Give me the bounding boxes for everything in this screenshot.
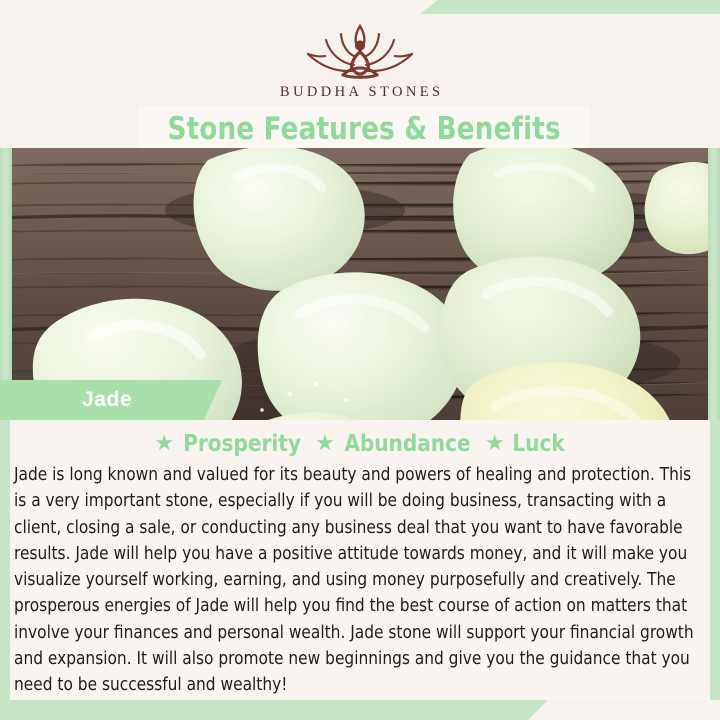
stone-photo (0, 148, 720, 420)
brand-logo: BUDDHA STONES (0, 16, 720, 101)
photo-right-edge-accent (708, 148, 720, 420)
title-banner: Stone Features & Benefits (138, 106, 590, 151)
star-icon: ★ (315, 432, 335, 454)
photo-left-edge-accent (0, 148, 12, 420)
panel-left-edge-accent (0, 420, 10, 700)
stone-description: Jade is long known and valued for its be… (14, 462, 698, 699)
benefit-item-abundance: ★ Abundance (315, 429, 474, 457)
benefit-label: Prosperity (183, 429, 301, 457)
benefit-label: Abundance (344, 429, 470, 457)
benefit-item-luck: ★ Luck (485, 429, 566, 457)
star-icon: ★ (485, 432, 505, 454)
benefit-label: Luck (512, 429, 564, 457)
brand-wordmark: BUDDHA STONES (0, 84, 720, 101)
benefit-item-prosperity: ★ Prosperity (154, 429, 304, 457)
stone-name-band: Jade (0, 380, 222, 420)
page-title: Stone Features & Benefits (167, 111, 560, 147)
stone-info-card: BUDDHA STONES Stone Features & Benefits (0, 0, 720, 720)
benefits-row: ★ Prosperity ★ Abundance ★ Luck (0, 429, 720, 457)
description-panel: ★ Prosperity ★ Abundance ★ Luck Jade is … (0, 420, 720, 700)
lotus-meditation-figure-icon (294, 16, 426, 82)
star-icon: ★ (154, 432, 174, 454)
panel-right-edge-accent (710, 420, 720, 700)
top-right-accent-band (420, 0, 720, 14)
stone-photo-illustration (0, 148, 720, 420)
bottom-left-accent-band (0, 698, 550, 720)
stone-name-label: Jade (82, 388, 132, 412)
